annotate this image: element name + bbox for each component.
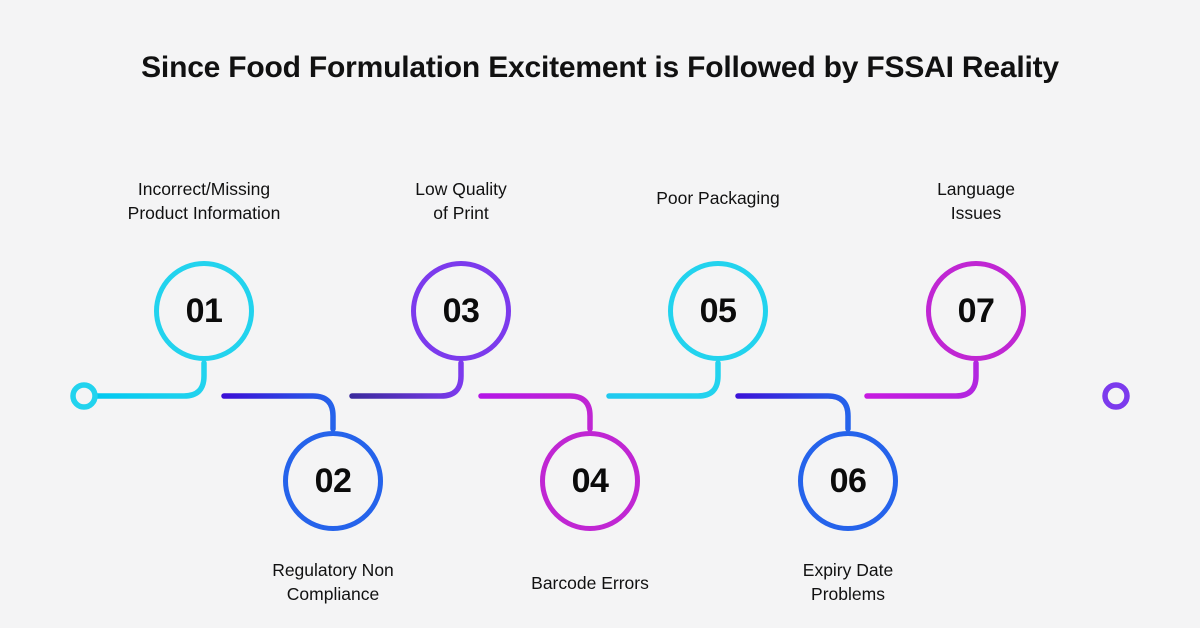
node-label-01: Incorrect/Missing Product Information (74, 178, 334, 225)
node-label-04: Barcode Errors (460, 572, 720, 596)
connector-05-to-06 (738, 396, 848, 429)
timeline-node-06[interactable]: 06 (798, 431, 898, 531)
timeline-node-04[interactable]: 04 (540, 431, 640, 531)
node-number-06: 06 (830, 464, 867, 498)
node-number-04: 04 (572, 464, 609, 498)
timeline-node-01[interactable]: 01 (154, 261, 254, 361)
timeline-node-02[interactable]: 02 (283, 431, 383, 531)
node-label-02: Regulatory Non Compliance (203, 559, 463, 606)
timeline-node-03[interactable]: 03 (411, 261, 511, 361)
node-label-06: Expiry Date Problems (718, 559, 978, 606)
timeline-end-node (1105, 385, 1127, 407)
infographic-canvas: Since Food Formulation Excitement is Fol… (0, 0, 1200, 628)
node-number-03: 03 (443, 294, 480, 328)
connector-01-to-02 (224, 396, 333, 429)
connector-02-to-03 (352, 363, 461, 396)
connector-03-to-04 (481, 396, 590, 429)
node-number-07: 07 (958, 294, 995, 328)
timeline-start-node (73, 385, 95, 407)
timeline-node-05[interactable]: 05 (668, 261, 768, 361)
connector-06-to-07 (867, 363, 976, 396)
node-number-02: 02 (315, 464, 352, 498)
node-number-01: 01 (186, 294, 223, 328)
connector-04-to-05 (609, 363, 718, 396)
timeline-node-07[interactable]: 07 (926, 261, 1026, 361)
connector-start-to-01 (94, 363, 204, 396)
node-number-05: 05 (700, 294, 737, 328)
node-label-03: Low Quality of Print (331, 178, 591, 225)
node-label-05: Poor Packaging (588, 187, 848, 211)
node-label-07: Language Issues (846, 178, 1106, 225)
